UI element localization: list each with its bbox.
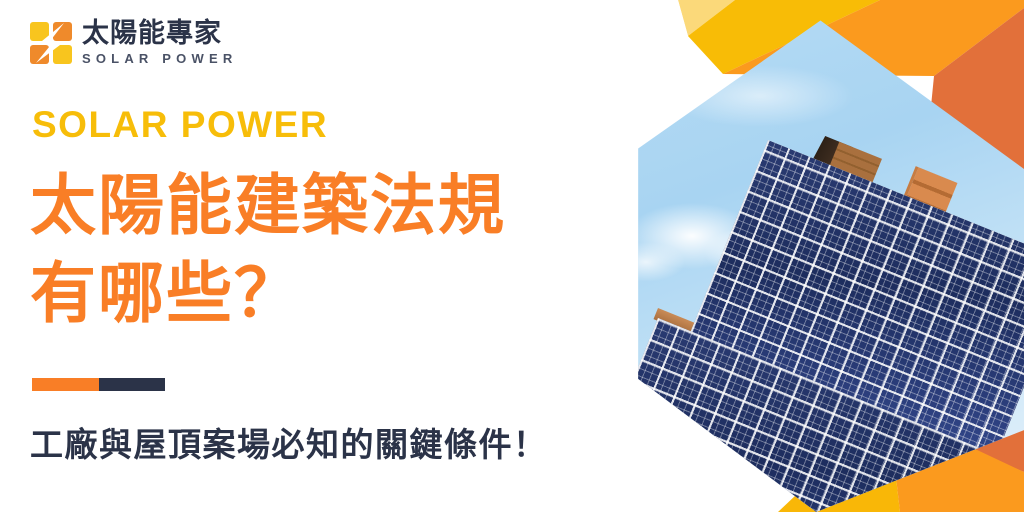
brand-wordmark: 太陽能專家 SOLAR POWER xyxy=(82,20,237,65)
divider-orange-segment xyxy=(32,378,99,391)
divider-navy-segment xyxy=(99,378,166,391)
brand-name-cn: 太陽能專家 xyxy=(82,20,237,47)
hero-subline: 工廠與屋頂案場必知的關鍵條件！ xyxy=(30,418,548,466)
left-white-mask-top xyxy=(600,0,688,138)
solar-power-promo-banner: 太陽能專家 SOLAR POWER SOLAR POWER 太陽能建築法規 有哪… xyxy=(0,0,1024,512)
hero-headline-line-2: 有哪些？ xyxy=(30,250,650,338)
hero-artwork xyxy=(600,0,1024,512)
hero-headline-line-1: 太陽能建築法規 xyxy=(30,162,650,250)
hero-kicker: SOLAR POWER xyxy=(32,104,328,146)
hero-headline: 太陽能建築法規 有哪些？ xyxy=(30,162,650,339)
brand-name-en: SOLAR POWER xyxy=(82,52,237,65)
brand-logo[interactable]: 太陽能專家 SOLAR POWER xyxy=(30,20,237,65)
solar-panel-bolt-logo-icon xyxy=(30,22,72,64)
accent-divider xyxy=(32,378,165,391)
